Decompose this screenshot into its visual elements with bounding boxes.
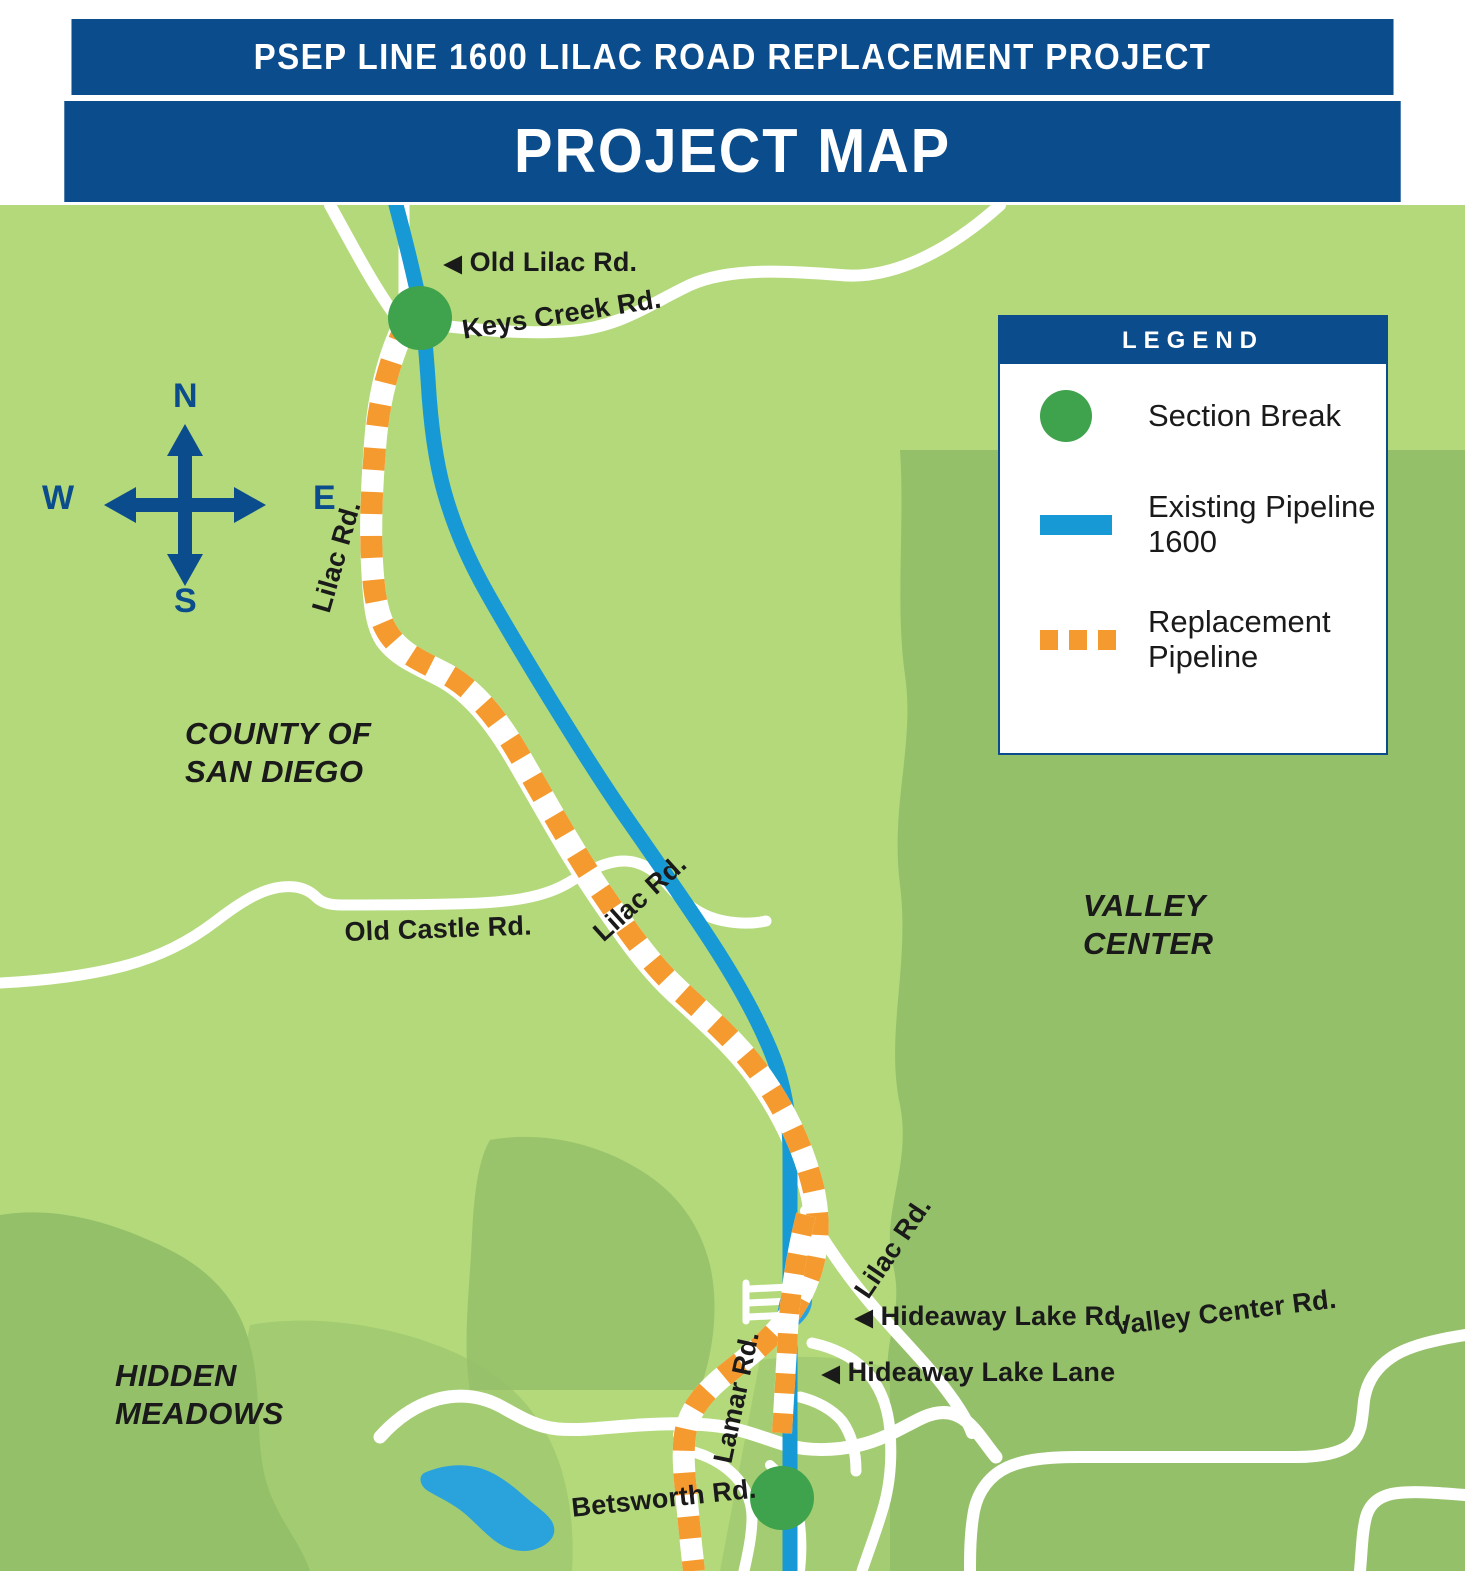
place-label-hidden-meadows: HIDDEN MEADOWS [115, 1357, 284, 1433]
county-line-2: SAN DIEGO [185, 753, 372, 791]
green-circle-icon [1022, 390, 1148, 442]
place-label-county-of-san-diego: COUNTY OF SAN DIEGO [185, 715, 372, 791]
legend-label-section-break: Section Break [1148, 399, 1341, 434]
legend-item-section-break: Section Break [1000, 390, 1386, 442]
hideaway-lake-lane-text: Hideaway Lake Lane [848, 1357, 1116, 1387]
legend-title: LEGEND [1000, 317, 1386, 364]
legend-label-replacement-pipeline: Replacement Pipeline [1148, 605, 1386, 674]
compass-west-label: W [42, 479, 74, 518]
valley-center-line-1: VALLEY [1083, 887, 1213, 925]
compass-south-label: S [174, 582, 197, 621]
road-label-old-castle-rd: Old Castle Rd. [344, 910, 532, 948]
page-title: PSEP LINE 1600 LILAC ROAD REPLACEMENT PR… [71, 19, 1393, 95]
legend-item-replacement-pipeline: Replacement Pipeline [1000, 605, 1386, 674]
place-label-valley-center: VALLEY CENTER [1083, 887, 1213, 963]
legend-panel: LEGEND Section Break Existing Pipeline 1… [998, 315, 1388, 755]
compass-rose: N S W E [70, 390, 300, 620]
orange-dash-icon [1022, 630, 1148, 650]
section-break-marker-south [750, 1466, 814, 1530]
section-break-marker-north [388, 286, 452, 350]
page-subtitle: PROJECT MAP [64, 101, 1400, 202]
hideaway-lake-lane-arrow-icon: ◀ [822, 1360, 840, 1386]
road-label-hideaway-lake-rd: ◀ Hideaway Lake Rd. [855, 1301, 1129, 1332]
old-lilac-rd-text: Old Lilac Rd. [470, 247, 638, 277]
hidden-meadows-line-1: HIDDEN [115, 1357, 284, 1395]
hideaway-lake-rd-arrow-icon: ◀ [855, 1304, 873, 1330]
blue-line-icon [1022, 515, 1148, 535]
compass-north-label: N [173, 377, 198, 416]
map-canvas: N S W E COUNTY OF SAN DIEGO VALLEY CENTE… [0, 205, 1465, 1571]
legend-item-existing-pipeline: Existing Pipeline 1600 [1000, 490, 1386, 559]
valley-center-line-2: CENTER [1083, 925, 1213, 963]
hideaway-lake-rd-text: Hideaway Lake Rd. [881, 1301, 1129, 1331]
project-map-page: PSEP LINE 1600 LILAC ROAD REPLACEMENT PR… [0, 0, 1465, 1571]
legend-label-existing-pipeline: Existing Pipeline 1600 [1148, 490, 1386, 559]
hidden-meadows-line-2: MEADOWS [115, 1395, 284, 1433]
road-label-old-lilac-rd: ◀ Old Lilac Rd. [444, 247, 637, 278]
old-lilac-rd-arrow-icon: ◀ [444, 250, 462, 276]
county-line-1: COUNTY OF [185, 715, 372, 753]
road-label-hideaway-lake-lane: ◀ Hideaway Lake Lane [822, 1357, 1115, 1388]
